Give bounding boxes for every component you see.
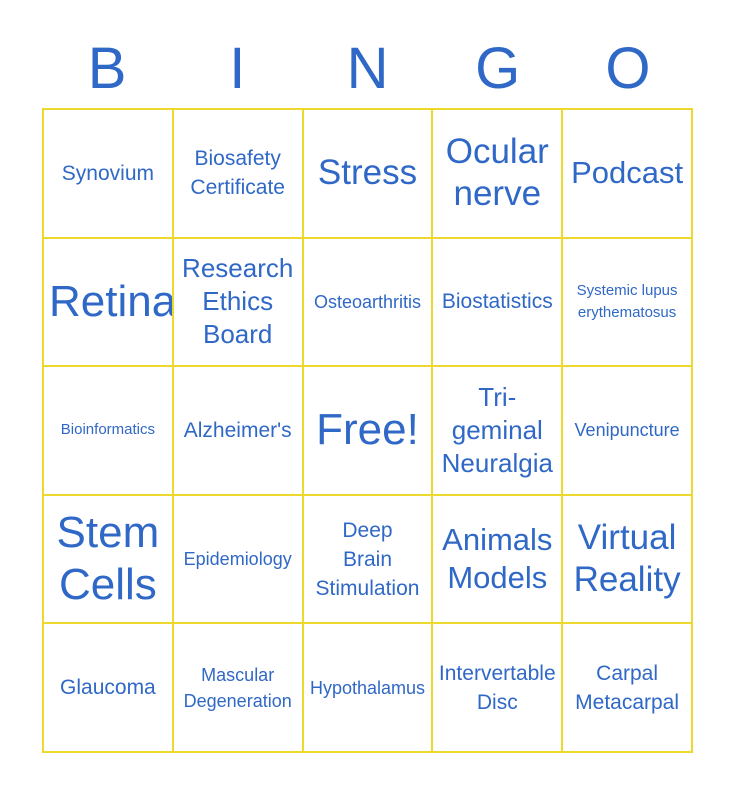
bingo-cell-r5c4[interactable]: Intervertable Disc xyxy=(433,624,563,753)
bingo-cell-r4c3[interactable]: Deep Brain Stimulation xyxy=(304,496,434,625)
bingo-cell-label: Free! xyxy=(309,404,427,456)
bingo-cell-r5c5[interactable]: Carpal Metacarpal xyxy=(563,624,693,753)
bingo-cell-r1c4[interactable]: Ocular nerve xyxy=(433,110,563,239)
bingo-cell-r3c1[interactable]: Bioinformatics xyxy=(44,367,174,496)
bingo-cell-label: Virtual Reality xyxy=(568,517,686,601)
bingo-cell-r3c5[interactable]: Venipuncture xyxy=(563,367,693,496)
bingo-cell-r1c1[interactable]: Synovium xyxy=(44,110,174,239)
bingo-header-letter-b: B xyxy=(42,39,172,99)
bingo-cell-label: Research Ethics Board xyxy=(179,252,297,351)
bingo-cell-r1c5[interactable]: Podcast xyxy=(563,110,693,239)
bingo-cell-label: Synovium xyxy=(49,159,167,188)
bingo-card: B I N G O SynoviumBiosafety CertificateS… xyxy=(0,0,736,800)
bingo-cell-r3c4[interactable]: Tri- geminal Neuralgia xyxy=(433,367,563,496)
bingo-cell-label: Osteoarthritis xyxy=(309,289,427,315)
bingo-cell-r3c2[interactable]: Alzheimer's xyxy=(174,367,304,496)
bingo-cell-r1c3[interactable]: Stress xyxy=(304,110,434,239)
bingo-grid: SynoviumBiosafety CertificateStressOcula… xyxy=(42,108,693,753)
bingo-cell-label: Bioinformatics xyxy=(49,419,167,441)
bingo-cell-r2c5[interactable]: Systemic lupus erythematosus xyxy=(563,239,693,368)
bingo-cell-label: Hypothalamus xyxy=(309,675,427,701)
bingo-cell-label: Epidemiology xyxy=(179,546,297,572)
bingo-cell-label: Podcast xyxy=(568,154,686,192)
bingo-header-letter-i: I xyxy=(172,39,302,99)
bingo-cell-label: Carpal Metacarpal xyxy=(568,659,686,717)
bingo-header-letter-g: G xyxy=(433,39,563,99)
bingo-cell-r3c3[interactable]: Free! xyxy=(304,367,434,496)
bingo-header-letter-o: O xyxy=(563,39,693,99)
bingo-cell-r4c2[interactable]: Epidemiology xyxy=(174,496,304,625)
bingo-cell-r1c2[interactable]: Biosafety Certificate xyxy=(174,110,304,239)
bingo-cell-label: Mascular Degeneration xyxy=(179,662,297,714)
bingo-cell-r5c1[interactable]: Glaucoma xyxy=(44,624,174,753)
bingo-cell-r2c2[interactable]: Research Ethics Board xyxy=(174,239,304,368)
bingo-cell-r4c5[interactable]: Virtual Reality xyxy=(563,496,693,625)
bingo-cell-r2c3[interactable]: Osteoarthritis xyxy=(304,239,434,368)
bingo-cell-r2c4[interactable]: Biostatistics xyxy=(433,239,563,368)
bingo-cell-r4c4[interactable]: Animals Models xyxy=(433,496,563,625)
bingo-header: B I N G O xyxy=(42,36,693,102)
bingo-cell-label: Alzheimer's xyxy=(179,416,297,445)
bingo-cell-label: Deep Brain Stimulation xyxy=(309,516,427,603)
bingo-cell-r2c1[interactable]: Retina xyxy=(44,239,174,368)
bingo-cell-label: Biosafety Certificate xyxy=(179,144,297,202)
bingo-cell-label: Intervertable Disc xyxy=(438,659,556,717)
bingo-cell-label: Animals Models xyxy=(438,521,556,597)
bingo-cell-label: Systemic lupus erythematosus xyxy=(568,280,686,324)
bingo-cell-label: Venipuncture xyxy=(568,417,686,443)
bingo-cell-label: Glaucoma xyxy=(49,673,167,702)
bingo-cell-r5c2[interactable]: Mascular Degeneration xyxy=(174,624,304,753)
bingo-cell-r5c3[interactable]: Hypothalamus xyxy=(304,624,434,753)
bingo-cell-r4c1[interactable]: Stem Cells xyxy=(44,496,174,625)
bingo-cell-label: Stem Cells xyxy=(49,507,167,611)
bingo-cell-label: Tri- geminal Neuralgia xyxy=(438,381,556,480)
bingo-cell-label: Biostatistics xyxy=(438,287,556,316)
bingo-cell-label: Ocular nerve xyxy=(438,131,556,215)
bingo-cell-label: Retina xyxy=(49,276,167,328)
bingo-header-letter-n: N xyxy=(302,39,432,99)
bingo-cell-label: Stress xyxy=(309,152,427,194)
